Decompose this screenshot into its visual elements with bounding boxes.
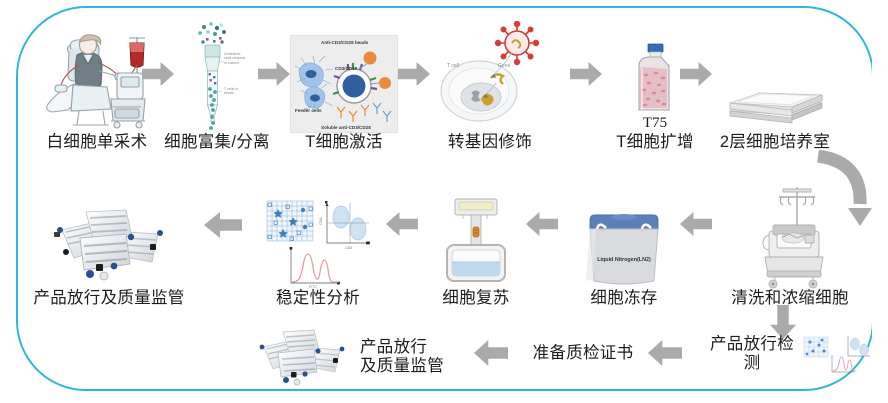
step-caption: 转基因修饰 [448, 133, 532, 152]
step-release-qa-final[interactable]: 产品放行 及质量监管 [250, 322, 474, 392]
column-eluate-label: T cells in eluate [224, 87, 248, 96]
step-release-testing[interactable]: 产品放行检测 [704, 330, 874, 378]
step-release-qa-upper[interactable]: 产品放行及质量监管 [14, 172, 204, 308]
step-gene-modification[interactable]: Gene T cell 转基因修饰 [424, 8, 556, 152]
apheresis-machine-icon [33, 29, 161, 133]
svg-text:CD4: CD4 [345, 246, 352, 250]
step-caption: 白细胞单采术 [47, 133, 148, 152]
step-caption: 细胞冻存 [590, 289, 657, 308]
step-caption: T细胞扩增 [616, 133, 694, 152]
svg-text:CD8: CD8 [319, 217, 323, 224]
flow-cytometry-icon: CD8 CD4 FITC [265, 197, 371, 289]
water-bath-icon [441, 197, 511, 289]
step-caption: 准备质检证书 [533, 344, 634, 363]
step-stability-analysis[interactable]: CD8 CD4 FITC 稳定性分析 [254, 170, 382, 308]
step-caption: 细胞复苏 [442, 289, 509, 308]
transduction-gene-label: Gene [498, 63, 510, 69]
step-caption: 产品放行 及质量监管 [360, 338, 444, 377]
cryobags-icon [250, 323, 354, 392]
step-caption: 稳定性分析 [276, 289, 360, 308]
step-qc-certificate[interactable]: 准备质检证书 [518, 338, 648, 370]
transduction-tcell-label: T cell [447, 63, 459, 69]
two-layer-chamber-icon [722, 79, 828, 133]
svg-text:FITC: FITC [309, 285, 317, 289]
step-caption: 产品放行及质量监管 [33, 289, 184, 308]
activation-soluble-label: Soluble anti-CD3/CD28 [321, 125, 371, 130]
step-culture-chamber[interactable]: 2层细胞培养室 [706, 20, 844, 152]
step-cell-thawing[interactable]: 细胞复苏 [424, 170, 528, 308]
t-cell-activation-icon: Anti-CD3/CD28 beads CD3/CD28 Feeder cell… [290, 35, 398, 133]
activation-feeder-label: Feeder cells [295, 108, 322, 113]
t75-flask-icon [629, 42, 681, 116]
ln2-tank-label: Liquid Nitrogen(LN2) [581, 257, 667, 263]
cell-processor-icon [753, 185, 827, 289]
column-retained-label: Undesired cells retained in column [224, 52, 248, 65]
cryobags-icon [42, 200, 176, 289]
step-leukapheresis[interactable]: 白细胞单采术 [22, 12, 172, 152]
step-caption: 清洗和浓缩细胞 [731, 289, 849, 308]
flask-size-label: T75 [643, 116, 667, 131]
activation-beads-label: Anti-CD3/CD28 beads [321, 40, 368, 45]
step-cell-enrichment[interactable]: Undesired cells retained in column T cel… [152, 12, 282, 152]
step-cryopreservation[interactable]: Liquid Nitrogen(LN2) 细胞冻存 [566, 176, 682, 308]
ln2-tank-icon: Liquid Nitrogen(LN2) [581, 211, 667, 289]
step-wash-concentrate[interactable]: 清洗和浓缩细胞 [716, 160, 864, 308]
step-t-cell-expansion[interactable]: T75 T细胞扩增 [602, 20, 708, 152]
activation-receptor-label: CD3/CD28 [335, 66, 357, 71]
step-caption: 细胞富集/分离 [164, 133, 270, 152]
workflow-diagram: 白细胞单采术 [0, 0, 888, 403]
viral-transduction-icon: Gene T cell [429, 21, 551, 133]
separation-column-icon: Undesired cells retained in column T cel… [186, 21, 248, 133]
frame-mask-right [872, 0, 888, 403]
step-caption: T细胞激活 [305, 133, 383, 152]
step-t-cell-activation[interactable]: Anti-CD3/CD28 beads CD3/CD28 Feeder cell… [278, 12, 410, 152]
qc-assay-icon [802, 333, 874, 375]
step-caption: 产品放行检测 [704, 335, 800, 374]
